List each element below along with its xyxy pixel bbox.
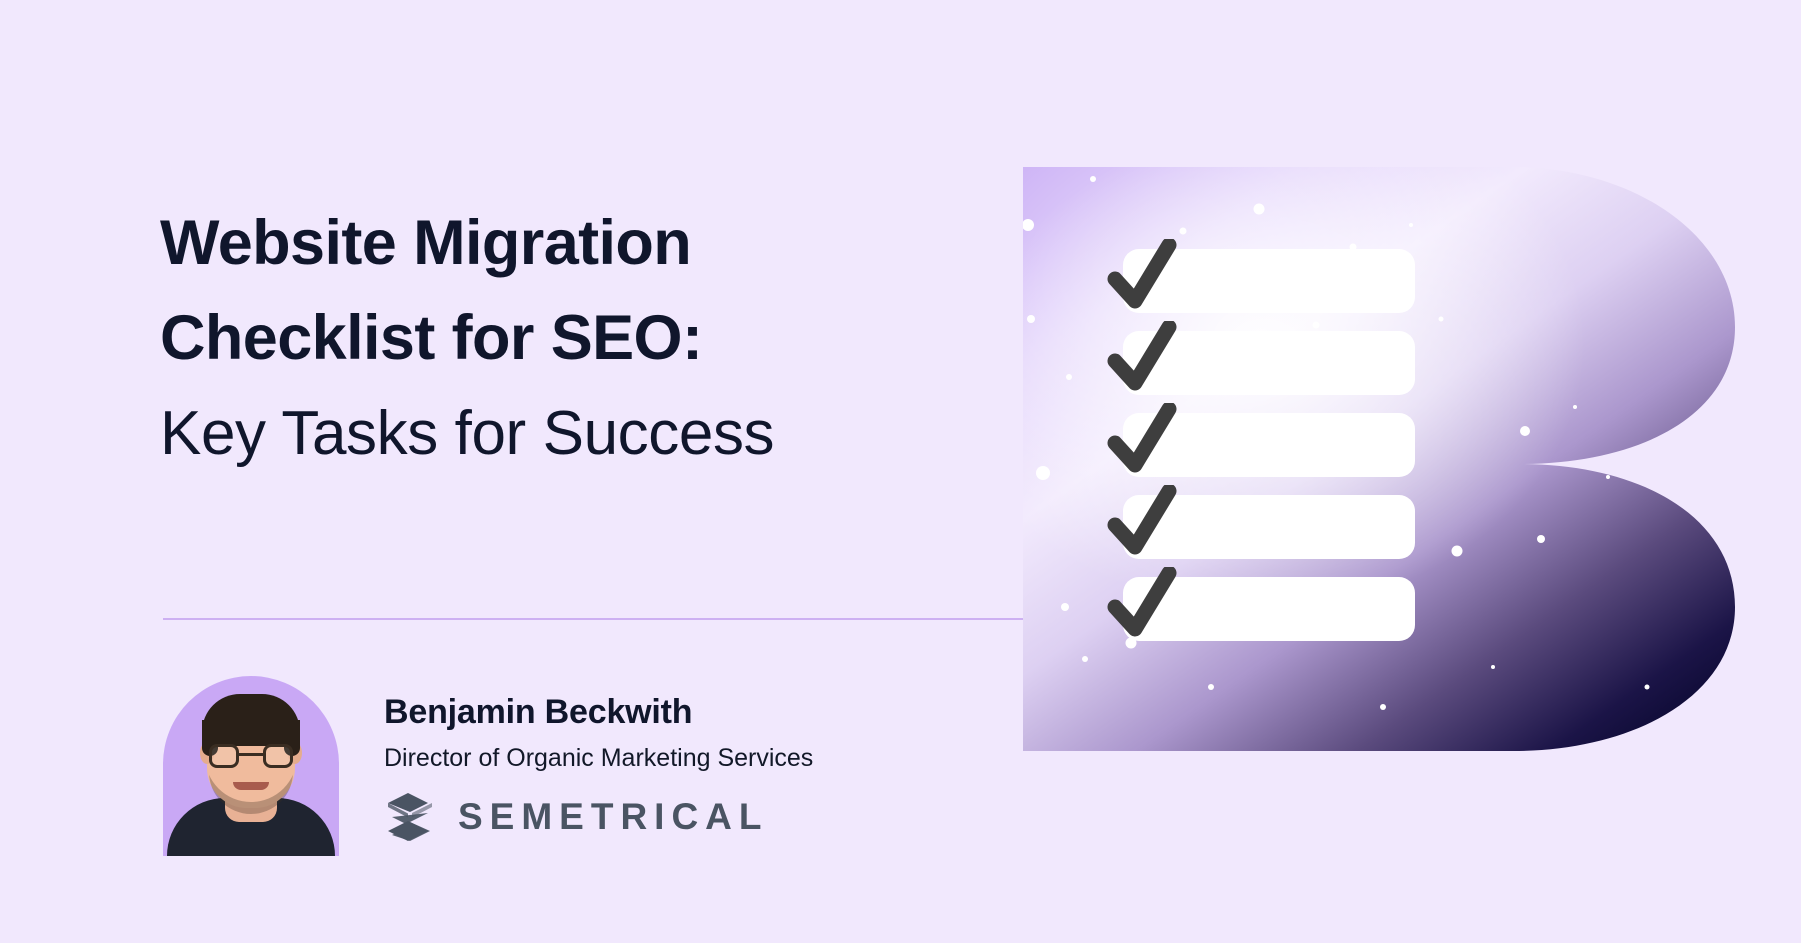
checklist-illustration: [1023, 167, 1735, 751]
author-details: Benjamin Beckwith Director of Organic Ma…: [384, 676, 813, 842]
avatar-eyebrow-right: [265, 736, 291, 740]
section-divider: [163, 618, 1043, 620]
checklist-item[interactable]: [1123, 413, 1415, 477]
slide-canvas: Website Migration Checklist for SEO: Key…: [0, 0, 1801, 943]
checklist-item[interactable]: [1123, 577, 1415, 641]
avatar-glasses-bridge: [239, 753, 263, 756]
checklist-bars: [1123, 249, 1423, 669]
brand-wordmark: SEMETRICAL: [458, 797, 769, 837]
avatar-mouth: [233, 782, 269, 790]
checklist-item[interactable]: [1123, 331, 1415, 395]
avatar-eyebrow-left: [211, 736, 237, 740]
avatar-glasses-right: [263, 744, 293, 768]
headline-line-1: Website Migration: [160, 196, 1060, 291]
checklist-item[interactable]: [1123, 249, 1415, 313]
checklist-item[interactable]: [1123, 495, 1415, 559]
headline-line-2: Checklist for SEO:: [160, 291, 1060, 386]
headline-line-3: Key Tasks for Success: [160, 386, 1060, 481]
author-name: Benjamin Beckwith: [384, 690, 813, 734]
author-block: Benjamin Beckwith Director of Organic Ma…: [163, 676, 813, 856]
avatar-photo: [163, 676, 339, 856]
brand-logo: SEMETRICAL: [384, 792, 813, 842]
avatar: [163, 676, 339, 856]
author-role: Director of Organic Marketing Services: [384, 740, 813, 776]
avatar-glasses-left: [209, 744, 239, 768]
headline-block: Website Migration Checklist for SEO: Key…: [160, 196, 1060, 481]
semetrical-logo-mark-icon: [384, 792, 436, 842]
